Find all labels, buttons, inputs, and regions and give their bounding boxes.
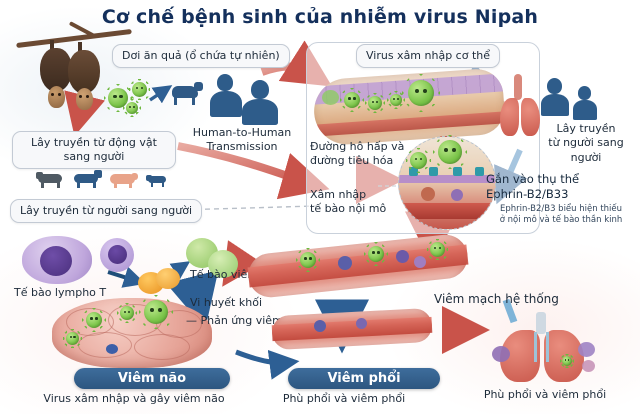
livestock-row	[36, 168, 166, 192]
label-systemic-vasculitis: Viêm mạch hệ thống	[434, 292, 594, 308]
resp-line1: Đường hô hấp và	[310, 140, 410, 154]
arrow-tcell-to-mono	[108, 272, 140, 282]
cow-icon	[168, 80, 202, 106]
p2p-line3: người	[538, 151, 634, 165]
p2p-line2: từ người sang	[538, 136, 634, 150]
label-h2h-english: Human-to-Human Transmission	[182, 126, 302, 155]
endo-line1: Xâm nhập	[310, 188, 410, 202]
nipah-virus-icon	[126, 102, 138, 114]
badge-encephalitis: Viêm não	[74, 368, 230, 389]
label-endothelial-entry: Xâm nhập tế bào nội mô	[310, 188, 410, 217]
human-silhouette-icon	[572, 86, 598, 118]
lungs-icon	[498, 74, 542, 150]
nipah-virus-icon	[390, 94, 402, 106]
human-silhouette-icon	[240, 80, 280, 122]
nipah-virus-icon	[86, 312, 102, 328]
endo-line2: tế bào nội mô	[310, 202, 410, 216]
ephrin-note-line2: ở nội mô và tế bào thần kinh	[486, 215, 636, 226]
nipah-virus-icon	[300, 252, 316, 268]
nipah-virus-icon	[344, 92, 360, 108]
t-lymphocyte-icon	[100, 238, 134, 272]
diagram-canvas: Cơ chế bệnh sinh của nhiễm virus Nipah	[0, 0, 640, 414]
badge-pneumonia: Viêm phổi	[288, 368, 440, 389]
t-lymphocyte-icon	[22, 236, 92, 284]
human-silhouette-icon	[208, 74, 244, 114]
nipah-virus-icon	[438, 140, 462, 164]
lungs-icon	[486, 312, 598, 384]
nipah-virus-icon	[368, 246, 384, 262]
caption-lung: Phù phổi và viêm phổi	[470, 388, 620, 402]
blood-vessel-icon	[271, 308, 433, 350]
nipah-virus-icon	[144, 300, 168, 324]
nipah-virus-icon	[66, 332, 79, 345]
caption-encephalitis: Virus xâm nhập và gây viêm não	[14, 392, 254, 406]
arrow-brain-to-lung	[236, 352, 292, 363]
label-respiratory-gi: Đường hô hấp và đường tiêu hóa	[310, 140, 410, 169]
pig-icon	[108, 172, 138, 188]
p2p-line1: Lây truyền	[538, 122, 634, 136]
resp-line2: đường tiêu hóa	[310, 154, 410, 168]
nipah-virus-icon	[132, 82, 147, 97]
label-person-to-person: Lây truyền từ người sang người	[538, 122, 634, 165]
caption-pneumonia: Phù phổi và viêm phổi	[264, 392, 424, 406]
animal-to-human-text: Lây truyền từ động vật sang người	[31, 136, 157, 163]
label-t-lymphocyte: Tế bào lympho T	[14, 286, 124, 300]
label-human-to-human: Lây truyền từ người sang người	[10, 199, 202, 223]
ephrin-line2: Ephrin-B2/B33	[486, 187, 636, 202]
human-silhouette-icon	[540, 78, 570, 114]
monocyte-icon	[156, 268, 180, 289]
label-microthrombi: Vi huyết khối	[190, 296, 300, 310]
ephrin-note-line1: Ephrin-B2/B3 biểu hiện thiếu	[486, 204, 636, 215]
label-animal-to-human: Lây truyền từ động vật sang người	[12, 131, 176, 169]
label-panel-header: Virus xâm nhập cơ thể	[356, 44, 500, 68]
nipah-virus-icon	[410, 152, 427, 169]
nipah-virus-icon	[430, 242, 445, 257]
label-bat-reservoir: Dơi ăn quả (ổ chứa tự nhiên)	[112, 44, 290, 68]
ephrin-receptor-callout: Gắn vào thụ thể Ephrin-B2/B33 Ephrin-B2/…	[486, 172, 636, 225]
nipah-virus-icon	[408, 80, 434, 106]
nipah-virus-icon	[368, 96, 382, 110]
h2h-line1: Human-to-Human	[182, 126, 302, 140]
ephrin-line1: Gắn vào thụ thể	[486, 172, 636, 187]
h2h-line2: Transmission	[182, 140, 302, 154]
